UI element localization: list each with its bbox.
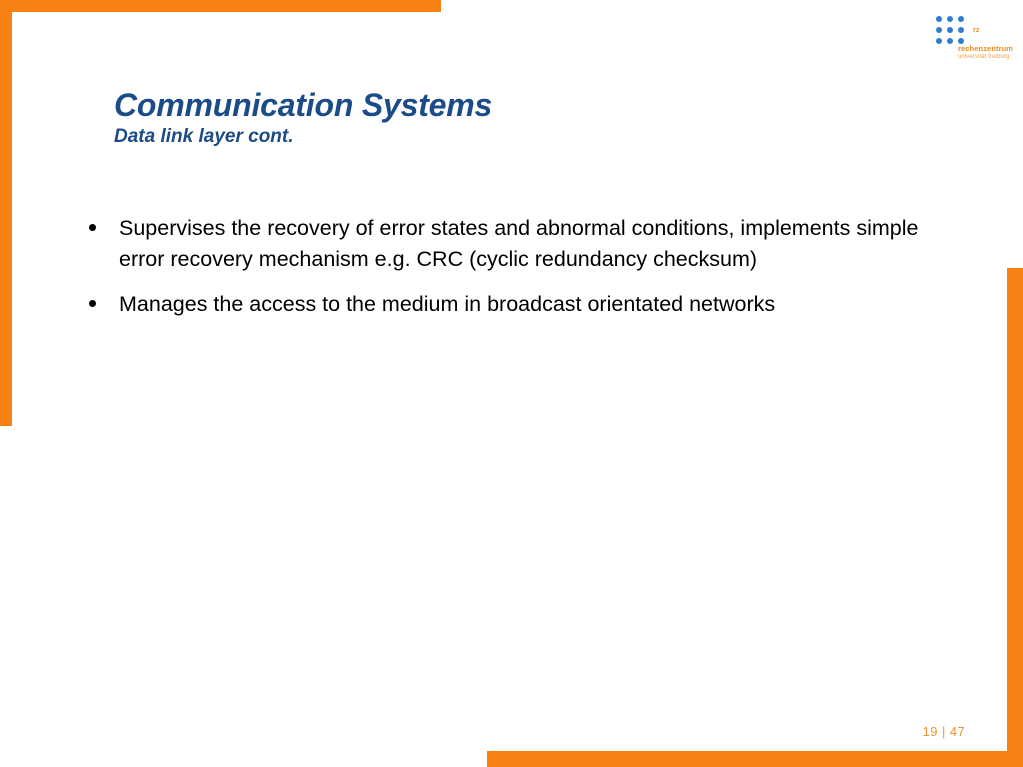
logo-institution: universität freiburg xyxy=(958,54,1013,61)
logo-rz-mark: rz xyxy=(973,27,980,34)
slide-title: Communication Systems xyxy=(114,88,934,124)
bullet-item: Supervises the recovery of error states … xyxy=(83,213,953,275)
slide-body: Supervises the recovery of error states … xyxy=(83,213,953,335)
bullet-text: Supervises the recovery of error states … xyxy=(119,213,939,275)
bullet-item: Manages the access to the medium in broa… xyxy=(83,289,953,320)
decorative-bar-top xyxy=(0,0,441,12)
rechenzentrum-logo: rz rechenzentrum universität freiburg xyxy=(936,16,1016,62)
bullet-dot-icon xyxy=(83,213,119,231)
logo-dot-grid-icon xyxy=(936,16,968,46)
page-number: 19 | 47 xyxy=(923,724,965,739)
decorative-bar-bottom xyxy=(487,751,1023,767)
slide-subtitle: Data link layer cont. xyxy=(114,126,934,148)
logo-wordmark: rechenzentrum universität freiburg xyxy=(958,45,1013,61)
bullet-text: Manages the access to the medium in broa… xyxy=(119,289,939,320)
slide: rz rechenzentrum universität freiburg Co… xyxy=(0,0,1023,767)
slide-heading: Communication Systems Data link layer co… xyxy=(114,88,934,148)
decorative-bar-left xyxy=(0,0,12,426)
decorative-bar-right xyxy=(1007,268,1023,767)
bullet-dot-icon xyxy=(83,289,119,307)
logo-name: rechenzentrum xyxy=(958,45,1013,54)
